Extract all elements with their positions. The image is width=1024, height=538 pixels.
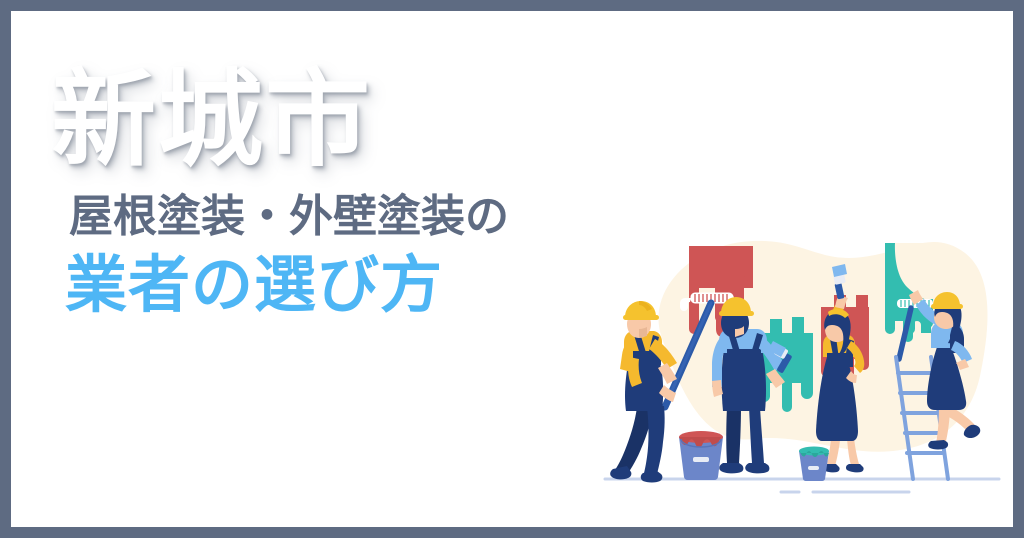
banner-card: 新城市 屋根塗装・外壁塗装の 業者の選び方 bbox=[11, 11, 1013, 527]
banner-frame: 新城市 屋根塗装・外壁塗装の 業者の選び方 bbox=[0, 0, 1024, 538]
red-paint-bucket bbox=[679, 431, 723, 480]
page-title: 新城市 bbox=[51, 59, 611, 183]
text-block: 新城市 屋根塗装・外壁塗装の 業者の選び方 bbox=[51, 59, 611, 324]
headline: 業者の選び方 bbox=[65, 248, 611, 324]
house-painters-illustration bbox=[603, 211, 1003, 511]
teal-paint-bucket bbox=[799, 447, 829, 482]
subtitle: 屋根塗装・外壁塗装の bbox=[69, 189, 611, 244]
